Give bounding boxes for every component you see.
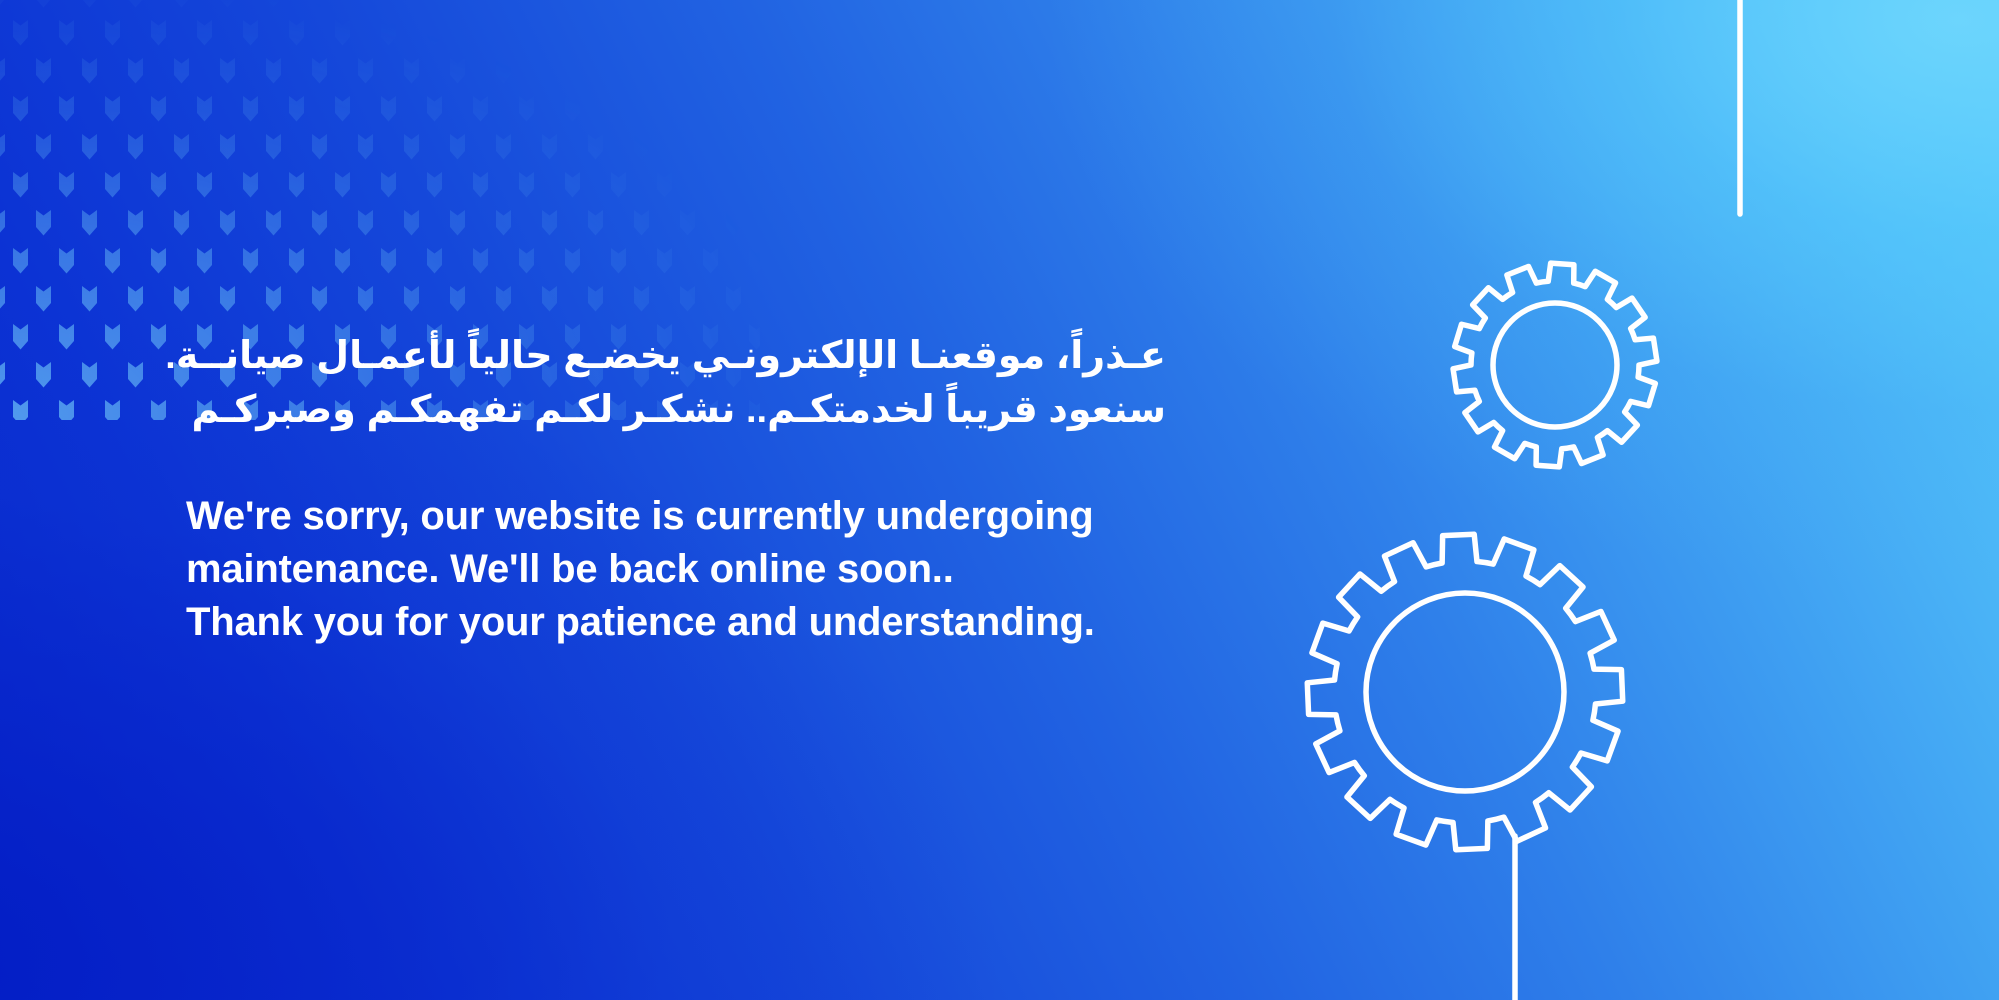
english-message: We're sorry, our website is currently un… bbox=[186, 490, 1166, 648]
maintenance-message: عـذراً، موقعنـا الإلكترونـي يخضـع حالياً… bbox=[186, 330, 1166, 648]
maintenance-page: عـذراً، موقعنـا الإلكترونـي يخضـع حالياً… bbox=[0, 0, 1999, 1000]
english-line-2: maintenance. We'll be back online soon.. bbox=[186, 543, 1166, 596]
arabic-message: عـذراً، موقعنـا الإلكترونـي يخضـع حالياً… bbox=[186, 330, 1166, 438]
arabic-line-1: عـذراً، موقعنـا الإلكترونـي يخضـع حالياً… bbox=[186, 330, 1166, 384]
english-line-3: Thank you for your patience and understa… bbox=[186, 596, 1166, 649]
arabic-line-2: سنعود قريباً لخدمتكـم.. نشكـر لكـم تفهمك… bbox=[186, 384, 1166, 438]
english-line-1: We're sorry, our website is currently un… bbox=[186, 490, 1166, 543]
